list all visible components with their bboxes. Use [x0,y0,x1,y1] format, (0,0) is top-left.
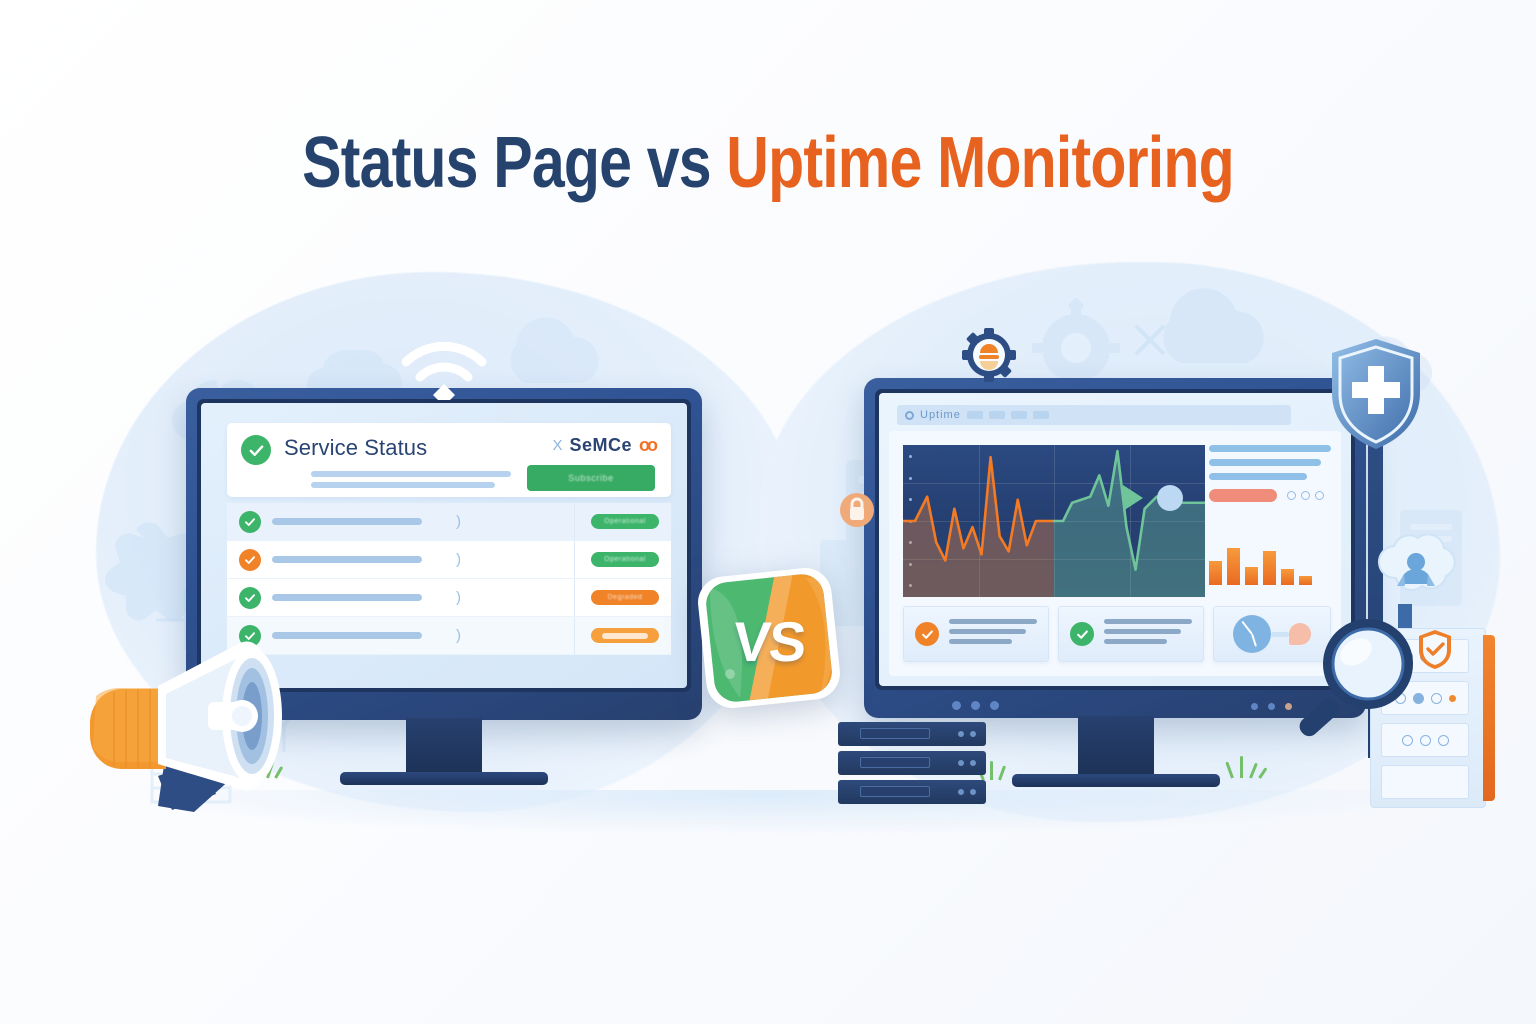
heading-part-two: Uptime Monitoring [726,123,1234,203]
vs-badge-label: VS [682,561,855,721]
row-meta: ) [456,589,461,606]
chart-marker-dot [1157,485,1183,511]
check-circle-icon [241,435,271,465]
bar [1245,567,1258,585]
row-divider [574,541,575,578]
shield-cross-icon [1328,336,1424,452]
status-badge: Operational [591,552,659,567]
bar [1209,561,1222,585]
topbar-placeholder [967,411,983,419]
table-row[interactable]: ) Degraded [227,579,671,617]
user-avatar-icon [1374,534,1458,614]
row-divider [574,617,575,654]
lock-icon [840,490,874,530]
shield-check-badge-icon [1416,628,1454,670]
dashboard-status-cards [903,606,1331,662]
row-label-placeholder [272,556,422,563]
check-circle-icon [1070,622,1094,646]
vs-badge: VS [688,558,850,718]
brand-name: SeMCe [569,435,632,456]
dashboard-topbar: Uptime [897,405,1291,425]
status-badge-label: Operational [604,556,646,563]
dashboard-body [889,431,1341,676]
page-heading: Status Page vs Uptime Monitoring [138,122,1398,204]
row-divider [574,503,575,540]
chart-series-paths [903,445,1205,597]
row-meta: ) [456,551,461,568]
table-row[interactable]: ) Operational [227,541,671,579]
gear-badge-icon [962,328,1016,382]
illustration-canvas: Service Status X SeMCe oo Subscribe [0,0,1536,1024]
row-label-placeholder [272,594,422,601]
header-placeholder-lines [311,471,511,493]
magnifying-glass-icon [1290,612,1420,752]
sidebar-line [1209,473,1307,480]
gauge-connector [1271,632,1289,637]
status-card[interactable] [903,606,1049,662]
status-badge-label: Degraded [608,594,643,601]
page-title: Service Status [284,435,427,461]
subscribe-button[interactable]: Subscribe [527,465,655,491]
right-monitor-indicator-dots [952,701,999,710]
indicator-circles [1287,491,1324,500]
status-badge-label: Operational [604,518,646,525]
service-status-header-card: Service Status X SeMCe oo Subscribe [227,423,671,497]
row-divider [574,579,575,616]
bar [1263,551,1276,585]
status-card-lines [949,619,1037,649]
status-card[interactable] [1058,606,1204,662]
wifi-icon [398,336,490,400]
left-monitor-stand-neck [406,718,482,774]
row-meta: ) [456,513,461,530]
right-monitor-stand-neck [1078,716,1154,776]
bar [1299,576,1312,585]
check-circle-icon [239,511,261,533]
brand-mark: oo [639,435,655,456]
right-monitor-indicator-dots [1251,703,1292,710]
right-monitor-screen: Uptime [879,393,1351,686]
circle-icon [905,411,914,420]
bar-chart [1209,519,1331,585]
right-monitor-inner-frame: Uptime [875,389,1355,690]
rack-accent-edge [1483,635,1495,801]
status-badge: Operational [591,514,659,529]
bar [1281,569,1294,585]
topbar-placeholder [1011,411,1027,419]
megaphone-icon [62,630,332,820]
row-label-placeholder [272,518,422,525]
right-monitor-stand-base [1012,774,1220,787]
uptime-chart [903,445,1205,597]
play-triangle-icon [1123,485,1143,511]
check-circle-icon [915,622,939,646]
status-badge-label [602,633,648,639]
topbar-placeholder [989,411,1005,419]
brand-logo: X SeMCe oo [552,435,655,456]
row-meta: ) [456,627,461,644]
server-stack-icon [838,722,992,808]
subscribe-button-label: Subscribe [568,473,613,483]
dashboard-topbar-label: Uptime [920,409,961,421]
gauge-icon [1233,615,1271,653]
check-circle-icon [239,549,261,571]
sidebar-line [1209,459,1321,466]
status-badge: Degraded [591,590,659,605]
brand-prefix: X [552,437,562,454]
status-badge [591,628,659,643]
rack-row [1381,765,1469,799]
heading-part-one: Status Page vs [302,123,726,203]
check-circle-icon [239,587,261,609]
grass-decor [1228,756,1268,778]
dashboard-sidebar [1209,445,1331,585]
table-row[interactable]: ) Operational [227,503,671,541]
status-card-lines [1104,619,1192,649]
alert-pill [1209,489,1277,502]
topbar-placeholder [1033,411,1049,419]
left-monitor-stand-base [340,772,548,785]
sidebar-line [1209,445,1331,452]
bar [1227,548,1240,585]
